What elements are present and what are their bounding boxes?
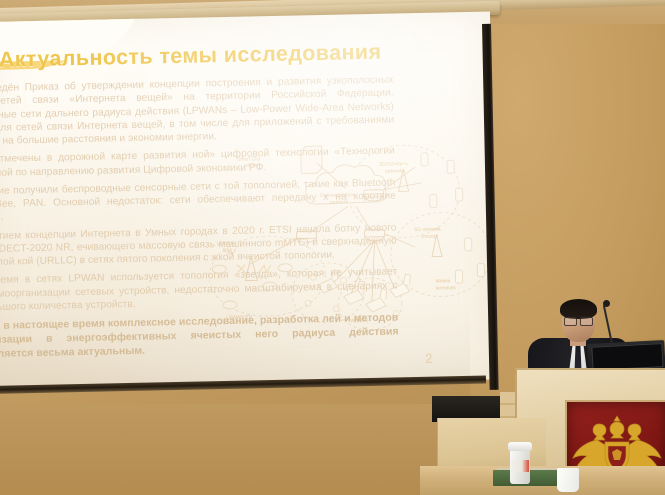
glasses-lens-right	[580, 317, 593, 326]
glasses-lens-left	[564, 317, 577, 326]
svg-text:terminals: terminals	[436, 285, 457, 291]
slide-paragraph: 19 был введён Приказ об утверждении конц…	[0, 73, 395, 149]
svg-text:concept: concept	[421, 234, 439, 240]
bottle-cap	[508, 442, 532, 451]
svg-text:5G network: 5G network	[414, 227, 440, 234]
presenter-glasses	[564, 316, 593, 324]
microphone-head	[603, 300, 610, 307]
paper-cup	[557, 468, 579, 492]
slide-paragraph: ное развитие получили беспроводные сенсо…	[0, 176, 396, 225]
wall-shadow	[0, 300, 470, 495]
slide-paragraph: Ns были отмечены в дорожной карте развит…	[0, 145, 395, 181]
laptop-screen	[591, 343, 663, 371]
slide-paragraph: зи с развитием концепции Интернета в Умн…	[0, 221, 397, 270]
bottle-label	[511, 460, 529, 472]
presentation-room-photo: Актуальность темы исследования Co	[0, 0, 665, 495]
svg-text:Mobile: Mobile	[435, 278, 450, 284]
